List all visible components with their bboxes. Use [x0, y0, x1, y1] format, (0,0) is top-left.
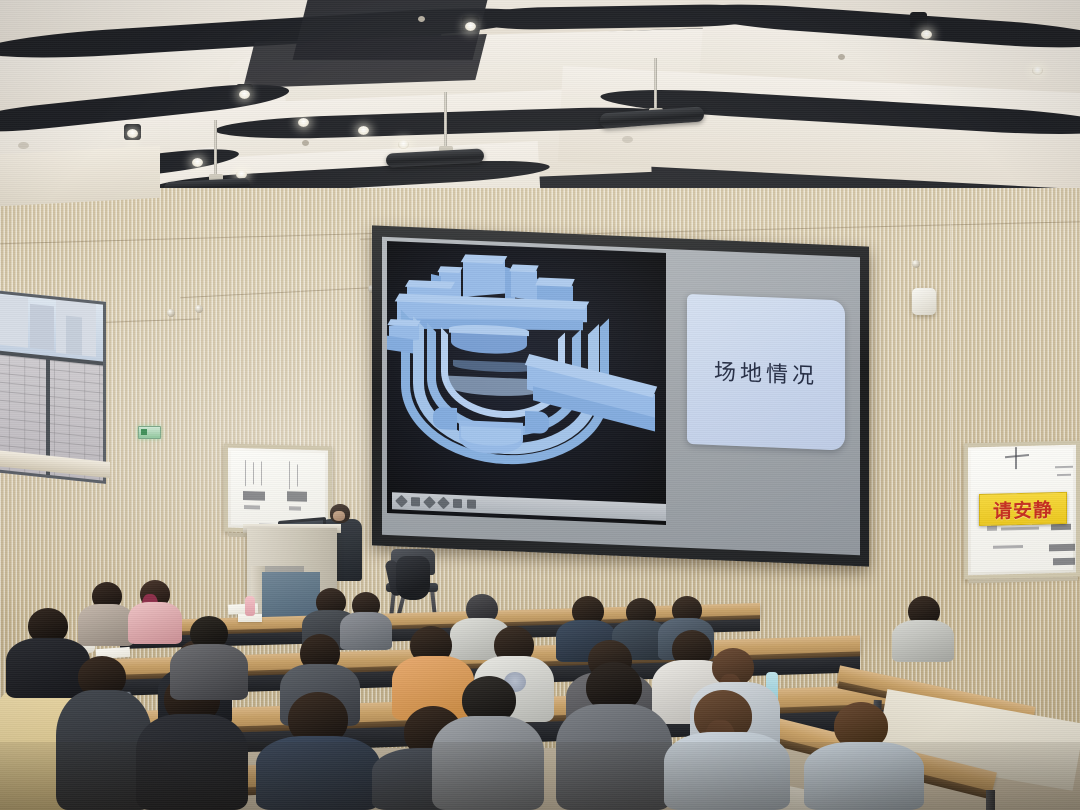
ceiling-soffit [0, 146, 160, 206]
wall-mounted-speaker [912, 288, 936, 315]
shapes-icon[interactable] [411, 497, 420, 506]
slide-title-text: 场地情况 [714, 354, 818, 390]
door [262, 572, 320, 618]
pen-icon[interactable] [395, 495, 408, 508]
slide-model-area [387, 241, 666, 525]
window-icon[interactable] [467, 499, 476, 508]
backpack [396, 556, 430, 600]
bottle [245, 596, 255, 616]
presenter-face [333, 511, 345, 521]
slide-title-card: 场地情况 [687, 294, 845, 451]
please-be-quiet-sign: 请安静 [979, 492, 1067, 526]
architectural-3d-model [387, 241, 666, 525]
presentation-display[interactable]: 场地情况 [372, 225, 869, 566]
right-whiteboard: 请安静 [964, 441, 1080, 580]
eraser-icon[interactable] [453, 499, 462, 508]
display-panel: 场地情况 [382, 237, 860, 555]
exit-sign [138, 426, 161, 439]
cursor-icon[interactable] [423, 496, 436, 509]
quiet-sign-text: 请安静 [993, 495, 1053, 523]
lecture-hall-photo: 请安静 [0, 0, 1080, 810]
pointer-icon[interactable] [437, 497, 450, 510]
foreground-shadow [0, 742, 1080, 810]
